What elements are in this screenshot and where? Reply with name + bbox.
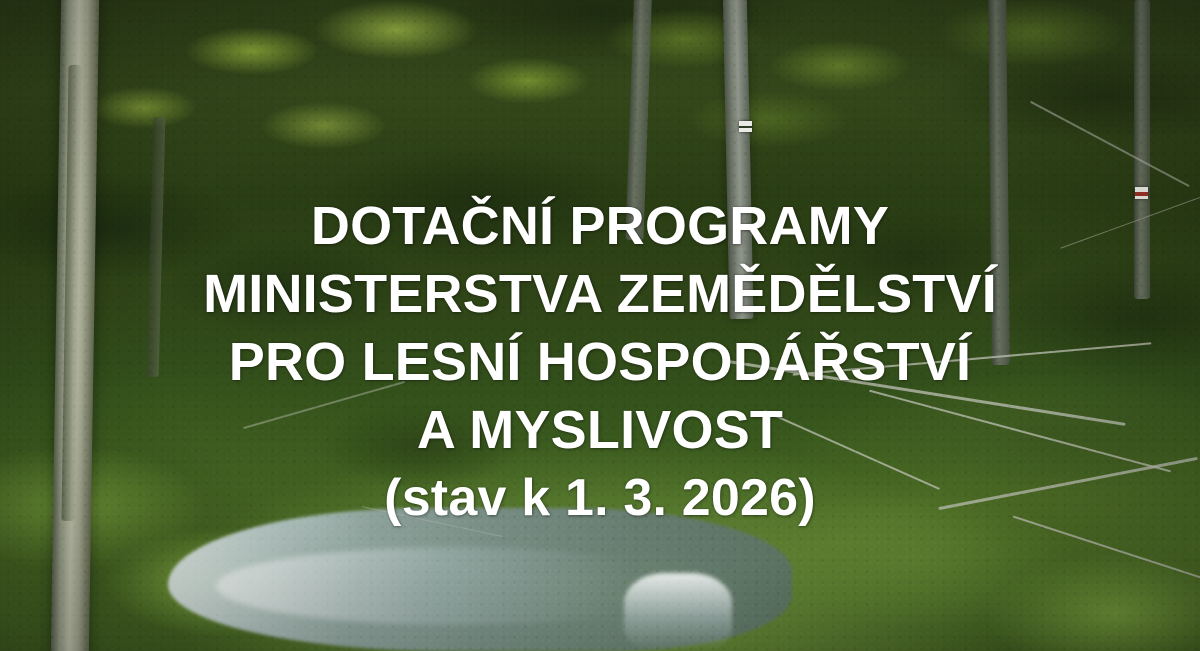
title-line-2: MINISTERSTVA ZEMĚDĚLSTVÍ bbox=[24, 260, 1176, 328]
title-status-date-line: (stav k 1. 3. 2026) bbox=[24, 464, 1176, 532]
title-line-4: A MYSLIVOST bbox=[24, 396, 1176, 464]
title-line-1: DOTAČNÍ PROGRAMY bbox=[24, 192, 1176, 260]
slide-title-block: DOTAČNÍ PROGRAMY MINISTERSTVA ZEMĚDĚLSTV… bbox=[0, 192, 1200, 532]
title-slide: DOTAČNÍ PROGRAMY MINISTERSTVA ZEMĚDĚLSTV… bbox=[0, 0, 1200, 651]
title-line-3: PRO LESNÍ HOSPODÁŘSTVÍ bbox=[24, 328, 1176, 396]
